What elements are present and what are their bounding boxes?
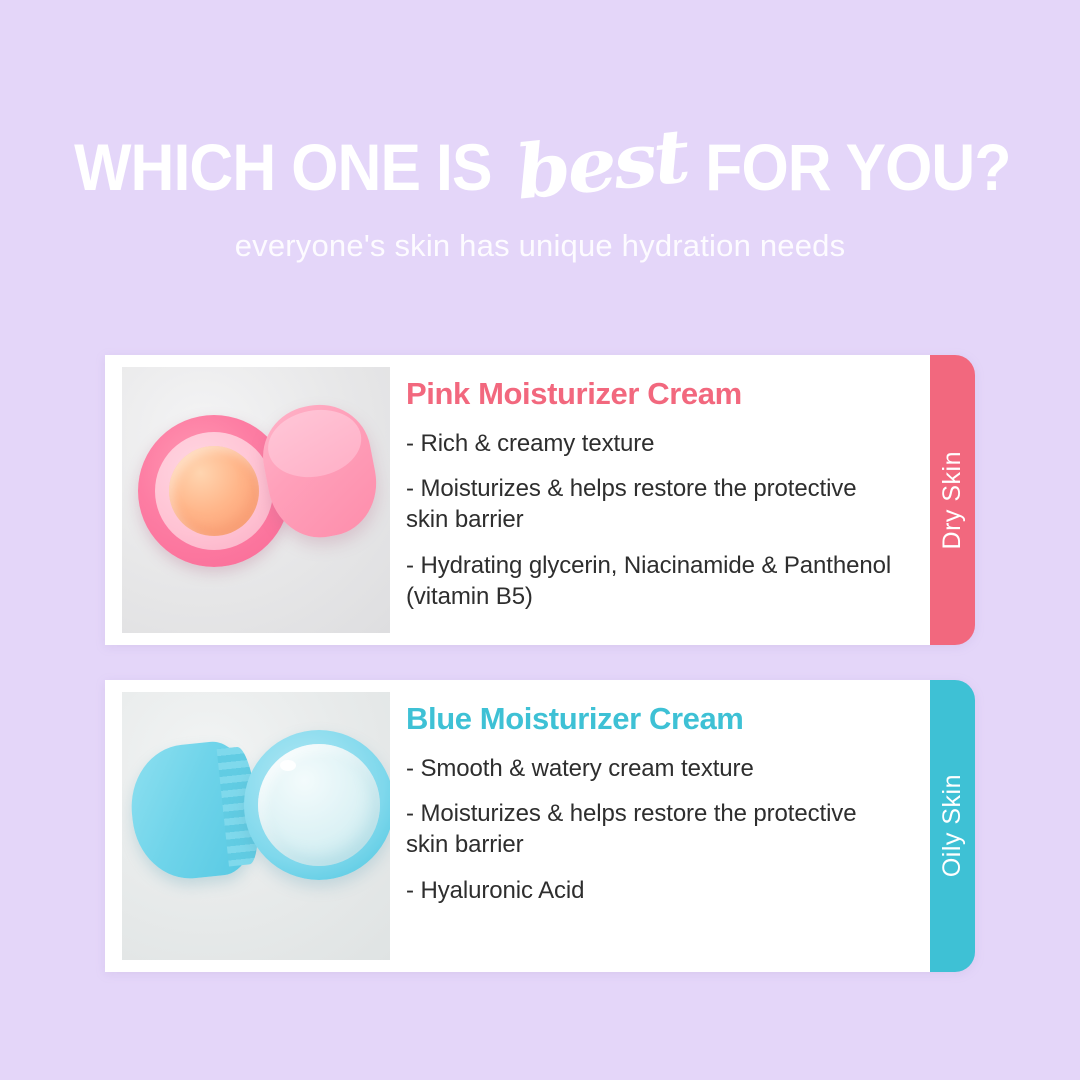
blue-jar-base-icon <box>244 730 390 880</box>
card-info: Pink Moisturizer Cream - Rich & creamy t… <box>390 355 930 626</box>
product-card-blue[interactable]: Blue Moisturizer Cream - Smooth & watery… <box>105 680 975 972</box>
headline-part-two: FOR YOU? <box>706 134 1011 200</box>
card-info: Blue Moisturizer Cream - Smooth & watery… <box>390 680 930 920</box>
product-title: Pink Moisturizer Cream <box>406 377 902 411</box>
skin-type-tab-label: Oily Skin <box>938 774 967 877</box>
photo-backdrop <box>122 367 390 633</box>
blue-jar-photo <box>122 692 390 960</box>
headline-part-one: WHICH ONE IS <box>74 134 491 200</box>
feature-item: - Smooth & watery cream texture <box>406 753 902 784</box>
pink-jar-photo <box>122 367 390 633</box>
header: WHICH ONE IS best FOR YOU? everyone's sk… <box>0 128 1080 264</box>
headline: WHICH ONE IS best FOR YOU? <box>0 128 1080 202</box>
feature-item: - Rich & creamy texture <box>406 428 902 459</box>
headline-script-word: best <box>502 118 700 212</box>
card-body: Pink Moisturizer Cream - Rich & creamy t… <box>105 355 930 645</box>
skin-type-tab-dry[interactable]: Dry Skin <box>930 355 975 645</box>
blue-gel-surface <box>258 744 380 866</box>
feature-item: - Hydrating glycerin, Niacinamide & Pant… <box>406 550 902 612</box>
infographic-canvas: WHICH ONE IS best FOR YOU? everyone's sk… <box>0 0 1080 1080</box>
product-card-pink[interactable]: Pink Moisturizer Cream - Rich & creamy t… <box>105 355 975 645</box>
pink-cream-surface <box>169 446 259 536</box>
feature-item: - Moisturizes & helps restore the protec… <box>406 473 902 535</box>
feature-item: - Hyaluronic Acid <box>406 875 902 906</box>
pink-jar-rim <box>155 432 273 550</box>
product-title: Blue Moisturizer Cream <box>406 702 902 736</box>
card-body: Blue Moisturizer Cream - Smooth & watery… <box>105 680 930 972</box>
blue-jar-lid-icon <box>125 738 260 884</box>
skin-type-tab-label: Dry Skin <box>938 451 967 549</box>
photo-backdrop <box>122 692 390 960</box>
subtitle: everyone's skin has unique hydration nee… <box>0 228 1080 264</box>
feature-item: - Moisturizes & helps restore the protec… <box>406 798 902 860</box>
skin-type-tab-oily[interactable]: Oily Skin <box>930 680 975 972</box>
